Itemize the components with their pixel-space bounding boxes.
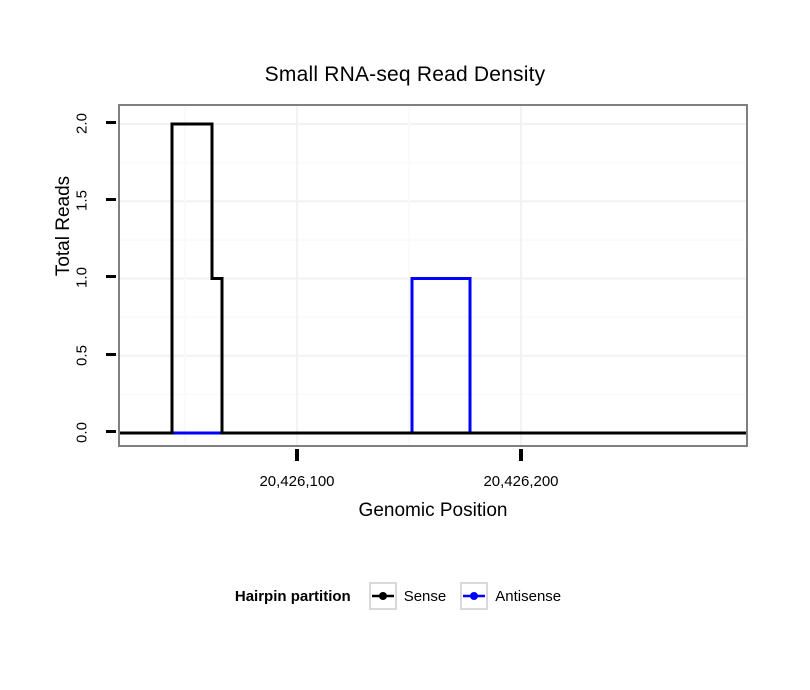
legend-key-antisense bbox=[460, 582, 488, 610]
x-tick-label-1: 20,426,200 bbox=[451, 473, 591, 490]
y-tick-mark-2 bbox=[106, 275, 116, 278]
x-axis-title: Genomic Position bbox=[118, 500, 748, 522]
y-tick-label-0: 0.0 bbox=[74, 413, 91, 453]
y-tick-label-3: 1.5 bbox=[74, 181, 91, 221]
plot-canvas bbox=[120, 106, 746, 445]
x-tick-mark-0 bbox=[295, 449, 299, 461]
legend-key-sense bbox=[369, 582, 397, 610]
x-tick-mark-1 bbox=[519, 449, 523, 461]
legend-entry-antisense[interactable]: Antisense bbox=[460, 582, 561, 610]
y-tick-mark-4 bbox=[106, 121, 116, 124]
line-point-icon bbox=[462, 584, 486, 608]
legend-title: Hairpin partition bbox=[235, 588, 351, 605]
y-axis-title: Total Reads bbox=[53, 126, 75, 326]
legend-label-sense: Sense bbox=[404, 588, 447, 605]
y-tick-label-1: 0.5 bbox=[74, 336, 91, 376]
y-tick-mark-0 bbox=[106, 430, 116, 433]
line-point-icon bbox=[371, 584, 395, 608]
y-tick-mark-1 bbox=[106, 353, 116, 356]
plot-panel bbox=[118, 104, 748, 447]
y-tick-label-4: 2.0 bbox=[74, 104, 91, 144]
x-tick-label-0: 20,426,100 bbox=[227, 473, 367, 490]
y-tick-label-2: 1.0 bbox=[74, 258, 91, 298]
legend-label-antisense: Antisense bbox=[495, 588, 561, 605]
legend-entry-sense[interactable]: Sense bbox=[369, 582, 447, 610]
chart-root: Small RNA-seq Read Density bbox=[0, 0, 810, 690]
y-tick-mark-3 bbox=[106, 198, 116, 201]
chart-title: Small RNA-seq Read Density bbox=[0, 63, 810, 87]
chart-legend: Hairpin partition Sense Antisense bbox=[0, 582, 810, 610]
